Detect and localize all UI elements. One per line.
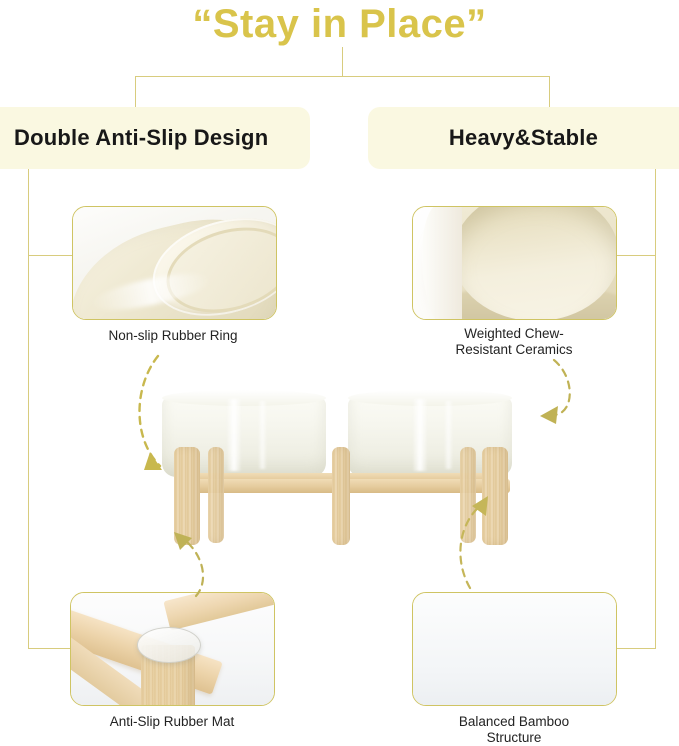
caption-balanced-bamboo-structure-line2: Structure: [394, 730, 634, 746]
thumb-image-rubber-mat: [71, 593, 274, 705]
rail-left-branch-top: [28, 255, 73, 256]
stand-leg-front-right: [482, 447, 508, 545]
hero-product-image: [150, 385, 530, 545]
stand-leg-back-left: [208, 447, 224, 543]
bracket-drop-right: [549, 76, 550, 108]
bracket-crossbar: [135, 76, 550, 77]
thumbnail-balanced-bamboo-structure[interactable]: [412, 592, 617, 706]
thumbnail-weighted-chew-resistant-ceramics[interactable]: [412, 206, 617, 320]
page-title: “Stay in Place”: [0, 0, 679, 50]
thumbnail-non-slip-rubber-ring[interactable]: [72, 206, 277, 320]
thumb-image-bamboo-structure: [413, 593, 616, 705]
caption-non-slip-rubber-ring: Non-slip Rubber Ring: [53, 328, 293, 344]
stand-leg-front-left: [174, 447, 200, 545]
rail-left-vertical: [28, 169, 29, 649]
heading-heavy-and-stable: Heavy&Stable: [368, 107, 679, 169]
stand-leg-center-post: [332, 447, 350, 545]
caption-weighted-chew-resistant-ceramics-line2: Resistant Ceramics: [394, 342, 634, 358]
thumb-image-bowl-interior: [413, 207, 616, 319]
heading-label-right: Heavy&Stable: [368, 125, 679, 151]
caption-balanced-bamboo-structure-line1: Balanced Bamboo: [394, 714, 634, 730]
stand-leg-back-right: [460, 447, 476, 543]
thumb-image-rubber-ring: [73, 207, 276, 319]
bracket-stem-top: [342, 47, 343, 76]
heading-label-left: Double Anti-Slip Design: [0, 125, 268, 151]
thumbnail-anti-slip-rubber-mat[interactable]: [70, 592, 275, 706]
caption-weighted-chew-resistant-ceramics-line1: Weighted Chew-: [394, 326, 634, 342]
caption-anti-slip-rubber-mat: Anti-Slip Rubber Mat: [52, 714, 292, 730]
rail-right-vertical: [655, 169, 656, 649]
rail-right-branch-bottom: [612, 648, 656, 649]
bracket-drop-left: [135, 76, 136, 108]
infographic-canvas: “Stay in Place” Double Anti-Slip Design …: [0, 0, 679, 745]
rail-left-branch-bottom: [28, 648, 72, 649]
rail-right-branch-top: [612, 255, 656, 256]
heading-double-anti-slip-design: Double Anti-Slip Design: [0, 107, 310, 169]
